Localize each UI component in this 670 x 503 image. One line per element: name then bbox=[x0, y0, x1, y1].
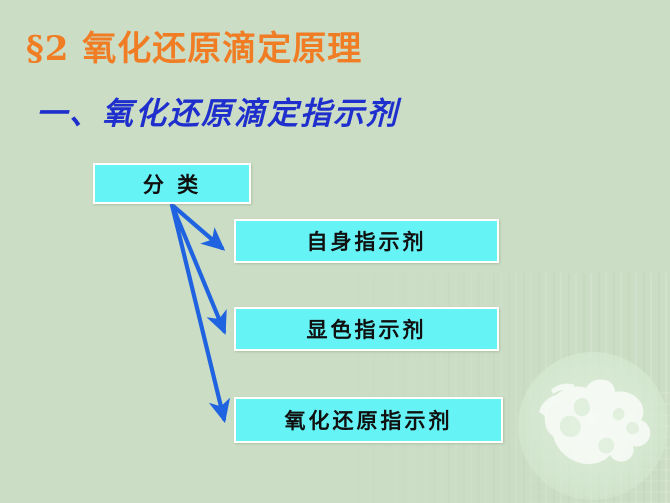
emblem-halo bbox=[518, 352, 668, 500]
slide-canvas: §2 氧化还原滴定原理 一、氧化还原滴定指示剂 分 类 自身指示剂 显色指示剂 … bbox=[0, 0, 670, 503]
page-title: §2 氧化还原滴定原理 bbox=[26, 21, 362, 70]
diagram-node-classification[interactable]: 分 类 bbox=[93, 163, 251, 204]
arrow-to-branch-1 bbox=[172, 205, 222, 248]
arrow-to-branch-2 bbox=[172, 205, 224, 331]
section-subtitle: 一、氧化还原滴定指示剂 bbox=[36, 88, 399, 133]
diagram-node-redox-indicator[interactable]: 氧化还原指示剂 bbox=[234, 397, 503, 443]
diagram-node-color-indicator[interactable]: 显色指示剂 bbox=[234, 307, 499, 351]
dragon-emblem-icon bbox=[523, 360, 659, 480]
arrow-to-branch-3 bbox=[172, 205, 224, 419]
diagram-node-self-indicator[interactable]: 自身指示剂 bbox=[234, 219, 499, 263]
